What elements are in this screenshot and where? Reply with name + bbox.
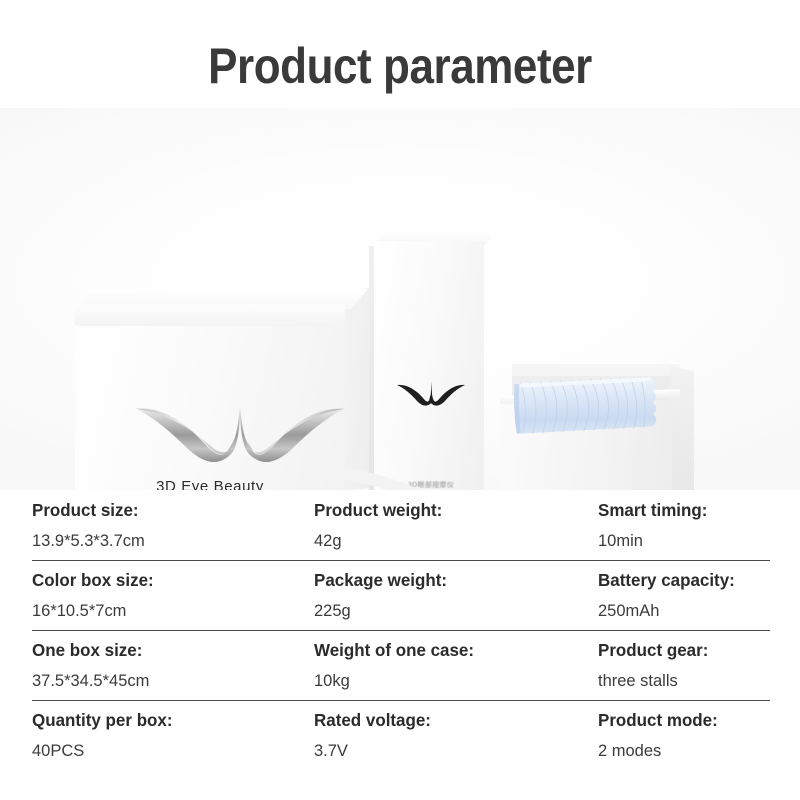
spec-cell: Rated voltage: 3.7V [314,708,435,763]
spec-cell: Product size: 13.9*5.3*3.7cm [32,498,148,553]
table-row: Product size: 13.9*5.3*3.7cm Product wei… [0,490,800,560]
spec-label: Quantity per box: [32,708,173,732]
table-row: Quantity per box: 40PCS Rated voltage: 3… [0,700,800,770]
table-row: One box size: 37.5*34.5*45cm Weight of o… [0,630,800,700]
eye-massager-device-white [150,463,460,490]
spec-cell: Product gear: three stalls [598,638,712,693]
spec-label: Product weight: [314,498,442,522]
spec-label: Package weight: [314,568,447,592]
spec-cell: Product mode: 2 modes [598,708,721,763]
spec-value: 37.5*34.5*45cm [32,669,149,693]
spec-label: Battery capacity: [598,568,735,592]
product-photo: 3D Eye Beauty 3D眼部按摩仪 [0,108,800,490]
eye-mask-wing-icon-black [396,374,466,406]
spec-label: Rated voltage: [314,708,431,732]
spec-label: Product mode: [598,708,718,732]
spec-value: three stalls [598,669,708,693]
table-row: Color box size: 16*10.5*7cm Package weig… [0,560,800,630]
spec-value: 250mAh [598,599,735,623]
specifications-table: Product size: 13.9*5.3*3.7cm Product wei… [0,490,800,770]
spec-value: 42g [314,529,442,553]
spec-cell: Package weight: 225g [314,568,451,623]
spec-value: 2 modes [598,739,718,763]
spec-cell: One box size: 37.5*34.5*45cm [32,638,153,693]
eye-mask-wing-icon-silver [133,360,348,465]
tray-box-right-face [670,366,694,490]
spec-label: Product gear: [598,638,708,662]
spec-cell: Color box size: 16*10.5*7cm [32,568,157,623]
main-box-lid-edge [75,304,345,326]
tall-box-front-face [374,241,484,490]
spec-label: Weight of one case: [314,638,474,662]
spec-value: 10min [598,529,707,553]
spec-value: 10kg [314,669,474,693]
spec-label: One box size: [32,638,149,662]
microfiber-cleaning-cloth [512,374,661,436]
spec-label: Product size: [32,498,145,522]
spec-value: 225g [314,599,447,623]
page-title: Product parameter [48,38,752,94]
spec-value: 3.7V [314,739,431,763]
spec-label: Color box size: [32,568,154,592]
spec-cell: Smart timing: 10min [598,498,711,553]
spec-cell: Battery capacity: 250mAh [598,568,739,623]
spec-cell: Quantity per box: 40PCS [32,708,177,763]
spec-cell: Product weight: 42g [314,498,446,553]
spec-cell: Weight of one case: 10kg [314,638,479,693]
spec-value: 13.9*5.3*3.7cm [32,529,145,553]
spec-value: 16*10.5*7cm [32,599,154,623]
spec-value: 40PCS [32,739,173,763]
spec-label: Smart timing: [598,498,707,522]
